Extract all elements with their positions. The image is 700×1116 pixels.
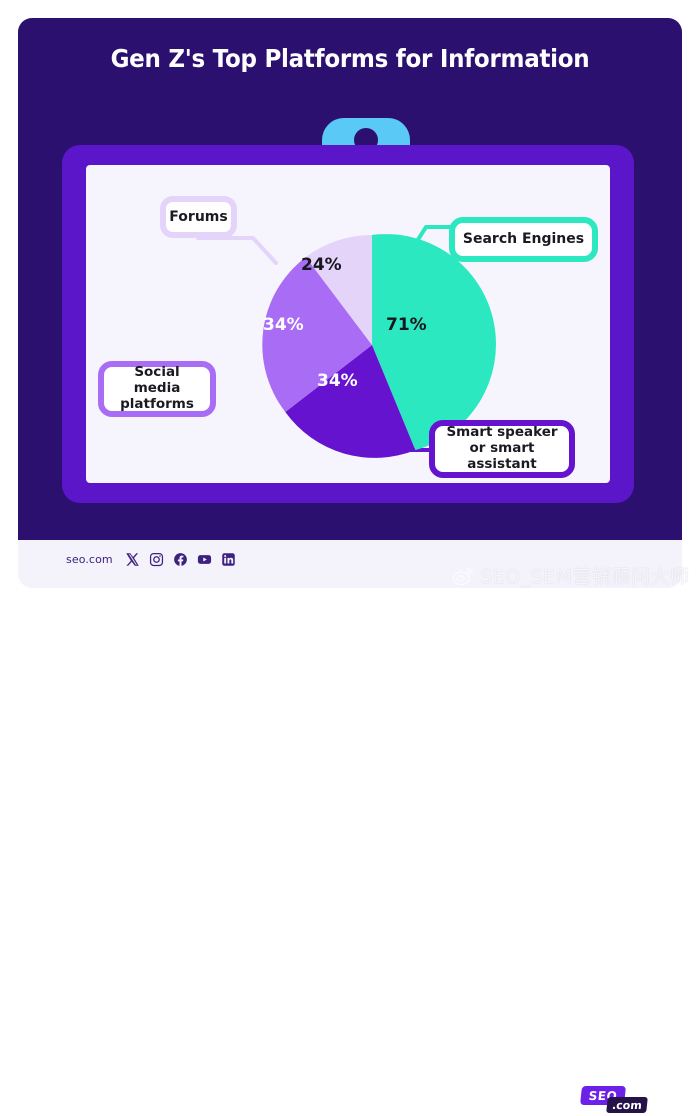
pie-value-social-media: 34% — [263, 315, 304, 335]
callout-smart-speaker-line2: or smart assistant — [467, 440, 536, 472]
callout-smart-speaker: Smart speaker or smart assistant — [429, 420, 575, 478]
facebook-icon[interactable] — [173, 552, 188, 567]
pie-value-smart-speaker: 34% — [317, 371, 358, 391]
callout-social-media: Social media platforms — [98, 361, 216, 417]
seo-logo-suffix: .com — [606, 1097, 648, 1113]
callout-search-engines: Search Engines — [449, 217, 598, 262]
instagram-icon[interactable] — [149, 552, 164, 567]
callout-forums: Forums — [160, 196, 237, 238]
pie-value-forums: 24% — [301, 255, 342, 275]
seo-com-logo: SEO .com — [581, 1086, 649, 1116]
connector-forums — [198, 238, 276, 263]
callout-forums-label: Forums — [169, 209, 227, 226]
linkedin-icon[interactable] — [221, 552, 236, 567]
infographic-page: Gen Z's Top Platforms for Information — [0, 0, 700, 603]
x-icon[interactable] — [125, 552, 140, 567]
callout-smart-speaker-line1: Smart speaker — [446, 424, 557, 440]
pie-value-search-engines: 71% — [386, 315, 427, 335]
footer-social-group: seo.com — [66, 552, 236, 567]
youtube-icon[interactable] — [197, 552, 212, 567]
footer-bar: seo.com — [18, 540, 682, 588]
callout-social-media-line2: platforms — [120, 396, 194, 412]
callout-social-media-label: Social media platforms — [110, 365, 204, 413]
callout-search-engines-label: Search Engines — [463, 231, 584, 248]
page-title: Gen Z's Top Platforms for Information — [45, 44, 656, 73]
callout-social-media-line1: Social media — [134, 364, 181, 396]
footer-brand-label: seo.com — [66, 553, 113, 566]
callout-smart-speaker-label: Smart speaker or smart assistant — [441, 425, 563, 473]
